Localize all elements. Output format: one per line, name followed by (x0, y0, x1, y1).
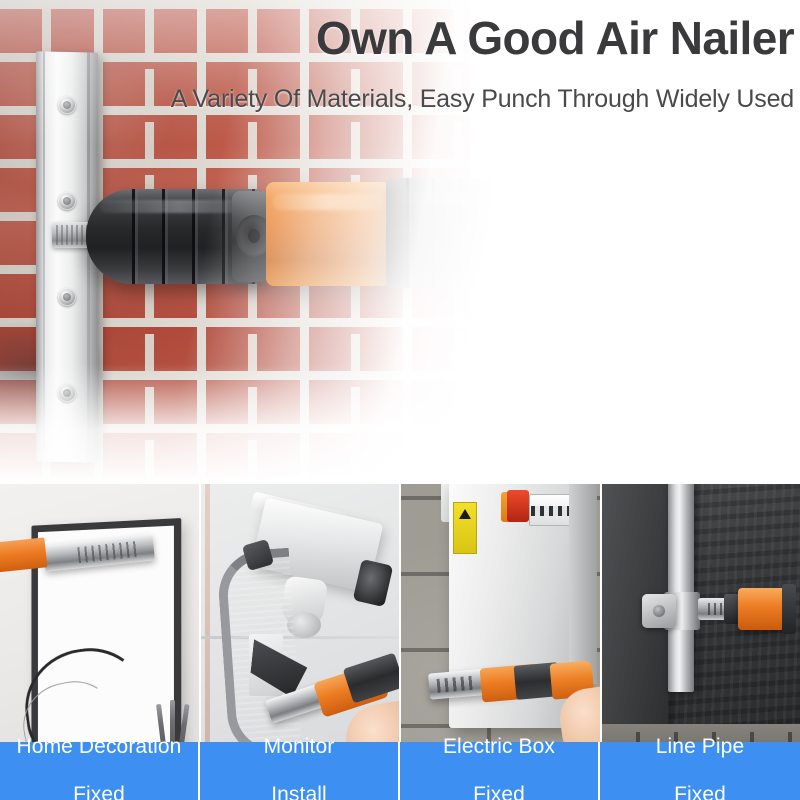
pipe-clamp (642, 594, 676, 628)
page-subtitle: A Variety Of Materials, Easy Punch Throu… (140, 84, 794, 114)
caption-line-pipe-fixed: Line Pipe Fixed (600, 742, 800, 800)
caption-line-2: Fixed (650, 783, 750, 800)
wrist (714, 300, 800, 460)
caption-line-1: Home Decoration (11, 735, 188, 759)
hand-gripping-tool (0, 0, 800, 484)
caption-home-decoration-fixed: Home Decoration Fixed (0, 742, 200, 800)
nailer-rear-cap (782, 584, 796, 634)
nailer-orange-body (738, 588, 788, 630)
caption-line-1: Electric Box (437, 735, 561, 759)
caption-electric-box-fixed: Electric Box Fixed (400, 742, 600, 800)
product-banner: Own A Good Air Nailer A Variety Of Mater… (0, 0, 800, 800)
emergency-stop-button (507, 490, 529, 522)
warning-label-icon (453, 502, 477, 554)
caption-monitor-install: Monitor Install (200, 742, 400, 800)
cabinet-side-rail (569, 484, 597, 684)
caption-line-1: Monitor (258, 735, 341, 759)
caption-line-1: Line Pipe (650, 735, 750, 759)
hero-image: Own A Good Air Nailer A Variety Of Mater… (0, 0, 800, 484)
caption-bar-row: Home Decoration Fixed Monitor Install El… (0, 742, 800, 800)
caption-line-2: Fixed (11, 783, 188, 800)
nailer-orange-body (0, 537, 47, 572)
metal-pipe (668, 484, 694, 692)
caption-line-2: Install (258, 783, 341, 800)
caption-line-2: Fixed (437, 783, 561, 800)
page-title: Own A Good Air Nailer (150, 14, 794, 63)
